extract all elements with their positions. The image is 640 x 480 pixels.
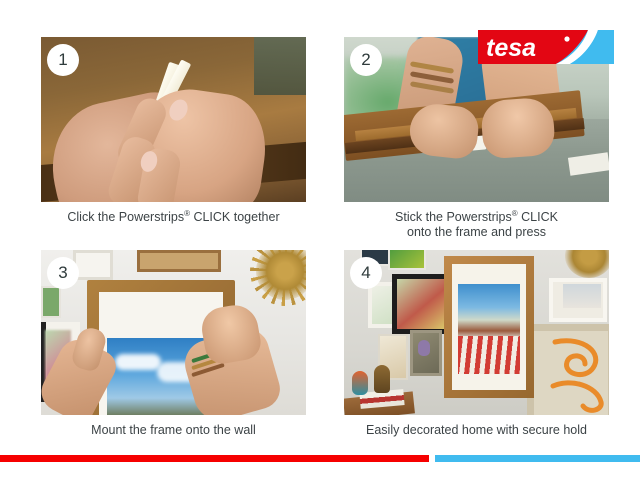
mirror-glass [418,340,430,356]
tesa-logo-icon: tesa [478,30,614,64]
step-number-badge-3: 3 [47,257,79,289]
step-card-3[interactable]: 3 Mount the frame onto the wall [41,250,306,438]
caption-text: Click the Powerstrips [67,210,184,224]
step-number-badge-2: 2 [350,44,382,76]
squiggle-icon [545,334,609,414]
footer-rule [0,455,640,462]
steps-grid: 1 Click the Powerstrips® CLICK together [41,37,608,429]
decor-vase [352,371,368,395]
striped-pattern [458,336,520,374]
step-2-caption: Stick the Powerstrips® CLICK onto the fr… [344,210,609,240]
caption-line-1: Click the Powerstrips® CLICK together [41,210,306,225]
step-4-photo: 4 [344,250,609,415]
step-1-caption: Click the Powerstrips® CLICK together [41,210,306,225]
step-3-photo: 3 [41,250,306,415]
background-panel [254,37,306,95]
step-4-caption: Easily decorated home with secure hold [344,423,609,438]
cloud [115,354,161,370]
wall-frame-small [73,250,113,280]
footer-rule-blue [435,455,640,462]
decor-statue [374,365,390,393]
wall-frame-top-green [388,250,426,270]
step-card-2[interactable]: 2 Stick the Powerstrips® CLICK onto the … [344,37,609,240]
wall-frame-wide [137,250,221,272]
caption-text: Stick the Powerstrips [395,210,512,224]
main-frame-artwork [458,284,520,374]
step-number-badge-1: 1 [47,44,79,76]
step-1-photo: 1 [41,37,306,202]
wall-frame-edge [41,286,61,318]
step-card-1[interactable]: 1 Click the Powerstrips® CLICK together [41,37,306,225]
wall-frame-right-art [563,284,601,308]
wall-frame-abstract [392,274,450,334]
right-hand [480,97,556,160]
caption-text-suffix: CLICK together [190,210,280,224]
svg-text:tesa: tesa [486,34,536,62]
step-number-badge-4: 4 [350,257,382,289]
caption-line-1: Easily decorated home with secure hold [344,423,609,438]
instruction-sheet: 1 Click the Powerstrips® CLICK together [0,0,640,480]
squiggle-artwork [545,334,609,414]
step-card-4[interactable]: 4 Easily decorated home with secure hold [344,250,609,438]
step-3-caption: Mount the frame onto the wall [41,423,306,438]
footer-rule-red [0,455,429,462]
tesa-logo: tesa [478,30,614,64]
caption-text-suffix: CLICK [518,210,558,224]
caption-line-2: onto the frame and press [344,225,609,240]
caption-line-1: Mount the frame onto the wall [41,423,306,438]
caption-line-1: Stick the Powerstrips® CLICK [344,210,609,225]
